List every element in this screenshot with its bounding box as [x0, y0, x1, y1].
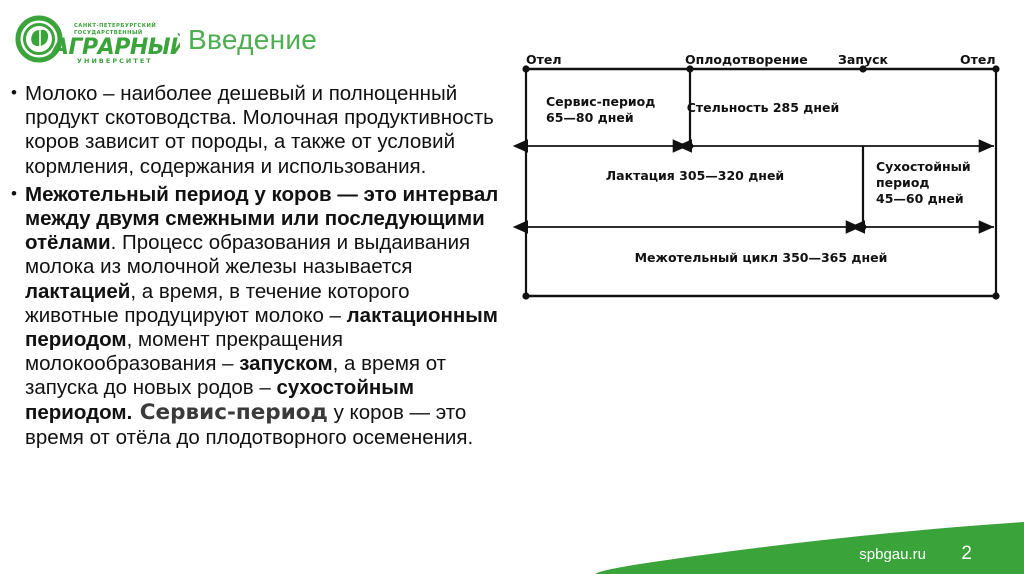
marker-label-dry-off: Запуск — [838, 52, 889, 67]
bullet-milk-text: Молоко – наиболее дешевый и полноценный … — [25, 82, 504, 179]
band-dry-period-line2: период — [876, 175, 930, 190]
list-item: • Молоко – наиболее дешевый и полноценны… — [4, 82, 504, 179]
node-cycle-start — [522, 292, 529, 299]
slide: САНКТ-ПЕТЕРБУРГСКИЙ ГОСУДАРСТВЕННЫЙ АГРА… — [0, 0, 1024, 574]
node-dry-off-mid — [860, 224, 867, 231]
text-segment: запуском — [239, 352, 332, 375]
cow-reproductive-cycle-diagram: Отел Оплодотворение Запуск Отел Сервис-п… — [505, 40, 1015, 310]
text-segment-service-period: Сервис-период — [132, 400, 328, 425]
band-dry-period-line3: 45—60 дней — [876, 191, 964, 206]
text-segment: лактацией — [25, 280, 130, 303]
bullet-marker: • — [4, 183, 25, 206]
band-service-period-line1: Сервис-период — [546, 94, 655, 109]
band-service-period-line2: 65—80 дней — [546, 110, 634, 125]
node-cycle-end — [992, 292, 999, 299]
bullet-calving-interval-text: Межотельный период у коров — это интерва… — [25, 183, 504, 450]
footer-site-url: spbgau.ru — [859, 546, 926, 563]
marker-label-calving-left: Отел — [526, 52, 562, 67]
footer-green-swoosh — [595, 522, 1024, 574]
band-dry-period-line1: Сухостойный — [876, 159, 971, 174]
band-calving-interval-line1: Межотельный цикл 350—365 дней — [635, 250, 888, 265]
marker-label-insemination: Оплодотворение — [685, 52, 808, 67]
logo-bottom-text: УНИВЕРСИТЕТ — [77, 57, 153, 65]
logo-top-line-1: САНКТ-ПЕТЕРБУРГСКИЙ — [74, 21, 156, 29]
band-gestation-line1: Стельность 285 дней — [687, 100, 840, 115]
list-item: • Межотельный период у коров — это интер… — [4, 183, 504, 450]
text-segment: Межотельный период у коров — — [25, 183, 364, 206]
page-title: Введение — [188, 24, 317, 56]
text-segment: Молоко – наиболее дешевый и полноценный … — [25, 82, 494, 178]
body-text: • Молоко – наиболее дешевый и полноценны… — [4, 82, 504, 450]
bullet-marker: • — [4, 82, 25, 105]
marker-label-calving-right: Отел — [960, 52, 996, 67]
university-logo: САНКТ-ПЕТЕРБУРГСКИЙ ГОСУДАРСТВЕННЫЙ АГРА… — [14, 14, 180, 66]
band-lactation-line1: Лактация 305—320 дней — [606, 168, 784, 183]
node-insemination-mid — [687, 143, 694, 150]
node-dry-off — [859, 65, 866, 72]
slide-page-number: 2 — [961, 543, 972, 565]
slide-footer: spbgau.ru 2 — [0, 512, 1024, 574]
